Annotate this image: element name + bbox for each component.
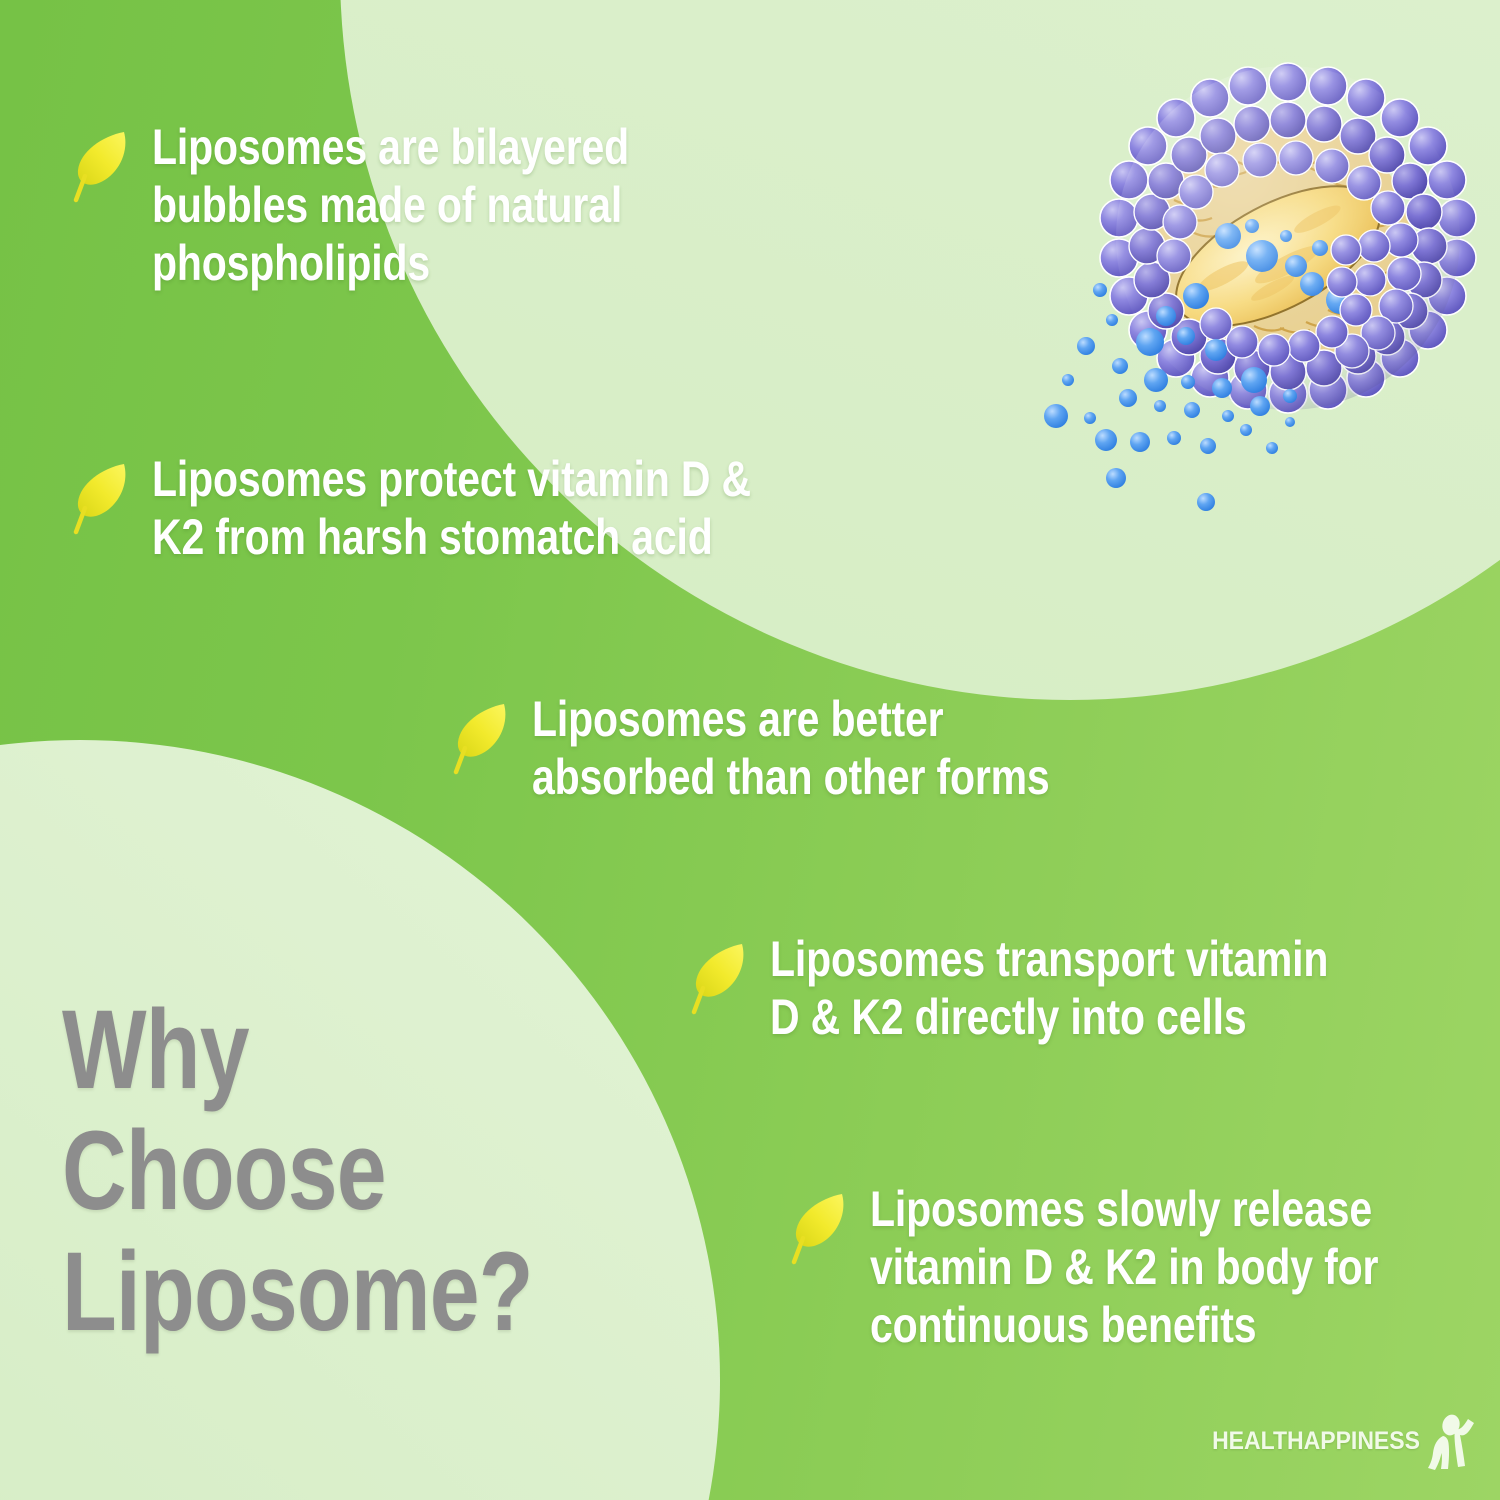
leaf-icon [72,128,134,206]
bullet-item-2: Liposomes protect vitamin D & K2 from ha… [72,450,882,566]
person-figure-icon [1426,1412,1478,1470]
leaf-icon [690,940,752,1018]
bullet-item-3: Liposomes are better absorbed than other… [452,690,1163,806]
bullet-text: Liposomes transport vitamin D & K2 direc… [770,930,1328,1046]
bullet-text: Liposomes protect vitamin D & K2 from ha… [152,450,751,566]
infographic-canvas: Liposomes are bilayered bubbles made of … [0,0,1500,1500]
leaf-icon [452,700,514,778]
bullet-item-1: Liposomes are bilayered bubbles made of … [72,118,734,292]
bullet-item-4: Liposomes transport vitamin D & K2 direc… [690,930,1451,1046]
page-title: Why Choose Liposome? [62,990,533,1353]
bullet-text: Liposomes slowly release vitamin D & K2 … [870,1180,1378,1354]
brand-wordmark: HEALTHAPPINESS [1212,1427,1420,1456]
leaf-icon [72,460,134,538]
brand-logo: HEALTHAPPINESS [1194,1412,1478,1470]
leaf-icon [790,1190,852,1268]
liposome-illustration [960,50,1480,530]
bullet-text: Liposomes are bilayered bubbles made of … [152,118,629,292]
bullet-item-5: Liposomes slowly release vitamin D & K2 … [790,1180,1490,1354]
bullet-text: Liposomes are better absorbed than other… [532,690,1050,806]
